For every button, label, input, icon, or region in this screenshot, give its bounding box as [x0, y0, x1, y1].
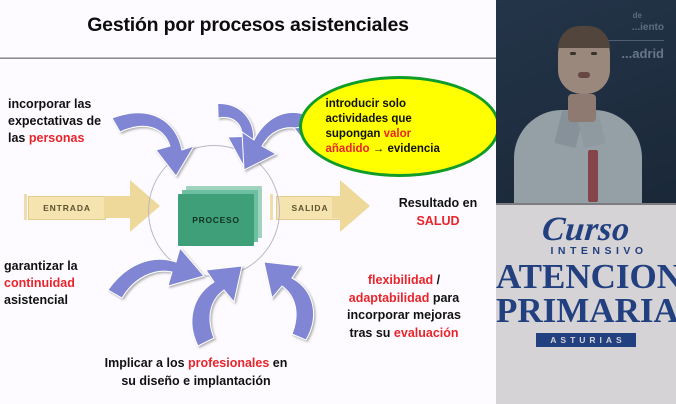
- course-logo-panel: Curso INTENSIVO ATENCION PRIMARIA ASTURI…: [496, 205, 676, 404]
- note-implicar-l1b: en: [269, 356, 287, 370]
- note-flex-l2-plain: para: [429, 291, 459, 305]
- note-resultado-l2: SALUD: [416, 214, 459, 228]
- note-resultado: Resultado en SALUD: [384, 194, 492, 230]
- logo-primaria: PRIMARIA: [496, 294, 676, 328]
- note-implicar: Implicar a los profesionales en su diseñ…: [78, 355, 314, 390]
- note-implicar-l2: su diseño e implantación: [121, 374, 270, 388]
- callout-line2: actividades que: [326, 113, 412, 125]
- note-flex-l1-red: flexibilidad: [368, 273, 433, 287]
- note-expectativas-l3b: personas: [29, 131, 85, 145]
- callout-line3-plain: supongan: [326, 128, 384, 140]
- note-continuidad-l3: asistencial: [4, 293, 68, 307]
- callout-text: introducir solo actividades que supongan…: [326, 97, 478, 157]
- callout-line4-red: añadido: [326, 143, 370, 155]
- note-flex-l3: incorporar mejoras: [347, 308, 461, 322]
- note-implicar-l1a: Implicar a los: [105, 356, 188, 370]
- note-continuidad-l2: continuidad: [4, 276, 75, 290]
- callout-line4-plain: → evidencia: [370, 143, 440, 155]
- note-flex-l1-plain: /: [433, 273, 440, 287]
- note-flex-l4-red: evaluación: [394, 326, 459, 340]
- note-expectativas-l2: expectativas de: [8, 114, 101, 128]
- logo-asturias: ASTURIAS: [536, 333, 635, 347]
- slide-area: Gestión por procesos asistenciales ENTRA…: [0, 0, 496, 404]
- screen-root: Gestión por procesos asistenciales ENTRA…: [0, 0, 676, 404]
- callout-valor-anadido: introducir solo actividades que supongan…: [299, 76, 496, 177]
- logo-stack: Curso INTENSIVO ATENCION PRIMARIA ASTURI…: [496, 213, 676, 348]
- callout-line3-red: valor: [384, 128, 412, 140]
- note-flex-l2-red: adaptabilidad: [349, 291, 430, 305]
- video-tint-overlay: [496, 0, 676, 205]
- note-implicar-l1-red: profesionales: [188, 356, 269, 370]
- logo-curso: Curso: [496, 213, 676, 247]
- note-expectativas-l3a: las: [8, 131, 29, 145]
- note-resultado-l1: Resultado en: [399, 196, 478, 210]
- callout-line1: introducir solo: [326, 98, 407, 110]
- note-flexibilidad: flexibilidad / adaptabilidad para incorp…: [320, 272, 488, 342]
- note-expectativas: incorporar las expectativas de las perso…: [8, 96, 148, 147]
- note-flex-l4-plain: tras su: [349, 326, 393, 340]
- note-expectativas-l1: incorporar las: [8, 97, 91, 111]
- note-continuidad-l1: garantizar la: [4, 259, 78, 273]
- speaker-video-panel[interactable]: de ...iento ...adrid: [496, 0, 676, 205]
- note-continuidad: garantizar la continuidad asistencial: [4, 258, 134, 309]
- logo-atencion: ATENCION: [496, 260, 676, 294]
